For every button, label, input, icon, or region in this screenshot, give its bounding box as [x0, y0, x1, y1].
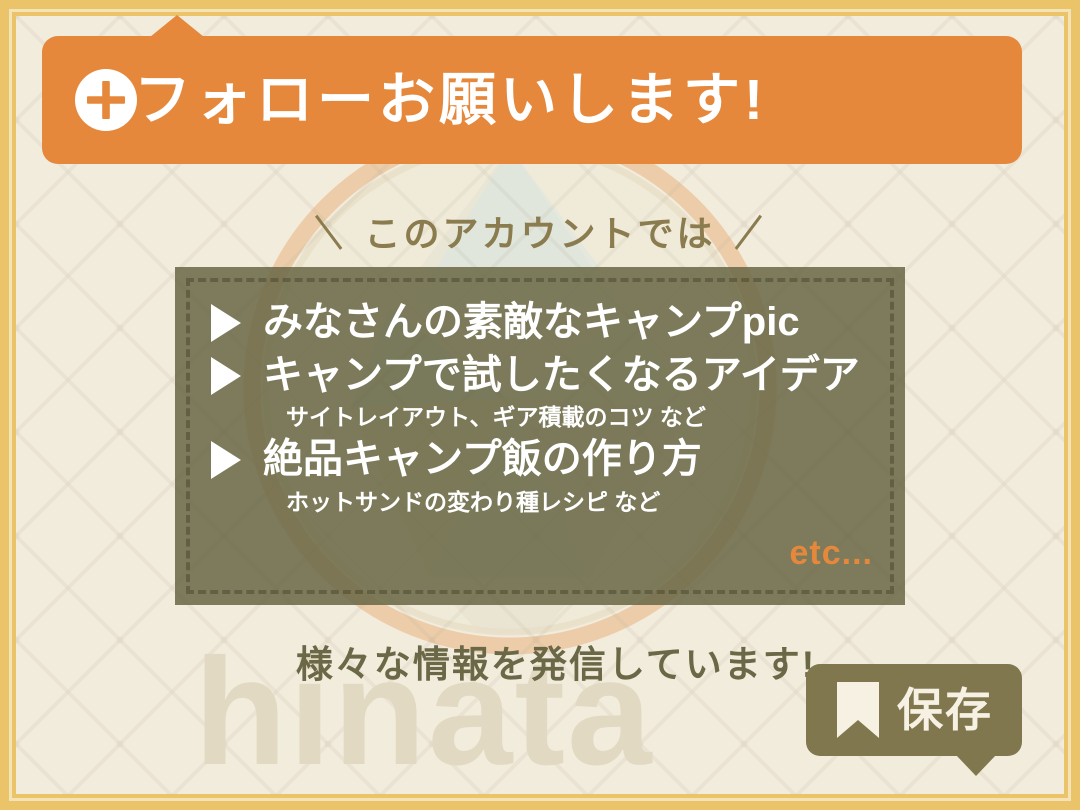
- poster-root: hinata 様々な情報を発信しています! フォローお願いします! ＼このアカウ…: [0, 0, 1080, 810]
- content-item-list: みなさんの素敵なキャンプpic キャンプで試したくなるアイデア サイトレイアウト…: [175, 267, 905, 517]
- save-button-body: 保存: [806, 664, 1022, 756]
- list-item-title: みなさんの素敵なキャンプpic: [263, 301, 800, 344]
- slash-right-icon: ／: [723, 205, 775, 257]
- save-button-tail: [956, 755, 996, 776]
- banner-tail: [150, 15, 204, 37]
- list-item-subtitle: サイトレイアウト、ギア積載のコツ など: [286, 398, 905, 432]
- list-item: 絶品キャンプ飯の作り方 ホットサンドの変わり種レシピ など: [211, 438, 905, 516]
- triangle-right-icon: [211, 357, 241, 395]
- banner-title: フォローお願いします!: [134, 72, 767, 129]
- list-item-subtitle: ホットサンドの変わり種レシピ など: [286, 483, 905, 517]
- banner-body: フォローお願いします!: [42, 36, 1022, 164]
- list-item: みなさんの素敵なキャンプpic: [211, 301, 905, 344]
- follow-banner[interactable]: フォローお願いします!: [42, 36, 1022, 164]
- list-item-title: キャンプで試したくなるアイデア: [263, 354, 860, 397]
- list-item-title: 絶品キャンプ飯の作り方: [263, 438, 702, 481]
- account-subtitle: ＼このアカウントでは／: [0, 205, 1080, 257]
- etc-label: etc...: [790, 534, 873, 573]
- triangle-right-icon: [211, 441, 241, 479]
- subtitle-text: このアカウントでは: [364, 213, 715, 254]
- content-box: みなさんの素敵なキャンプpic キャンプで試したくなるアイデア サイトレイアウト…: [175, 267, 905, 605]
- save-button[interactable]: 保存: [806, 664, 1022, 756]
- list-item: キャンプで試したくなるアイデア サイトレイアウト、ギア積載のコツ など: [211, 354, 905, 432]
- triangle-right-icon: [211, 304, 241, 342]
- slash-left-icon: ＼: [305, 205, 357, 257]
- save-button-label: 保存: [897, 687, 993, 733]
- plus-circle-icon: [74, 68, 138, 132]
- bookmark-icon: [835, 681, 881, 739]
